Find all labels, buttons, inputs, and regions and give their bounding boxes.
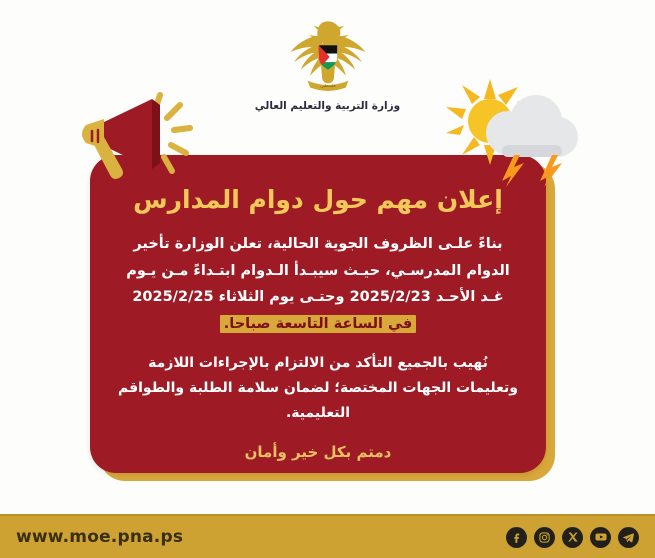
announcement-title: إعلان مهم حول دوام المدارس xyxy=(116,183,520,217)
poster-header: فلسطين وزارة التربية والتعليم العالي xyxy=(0,18,655,112)
ministry-name: وزارة التربية والتعليم العالي xyxy=(0,100,655,112)
announcement-card-content: إعلان مهم حول دوام المدارس بناءً علـى ال… xyxy=(90,155,546,473)
instagram-icon[interactable] xyxy=(534,527,555,548)
telegram-icon[interactable] xyxy=(618,527,639,548)
poster-footer: www.moe.pna.ps xyxy=(0,514,655,558)
social-links xyxy=(506,527,639,548)
announcement-paragraph-1-text: بناءً علـى الظروف الجوية الحالية، تعلن ا… xyxy=(126,236,510,306)
website-url[interactable]: www.moe.pna.ps xyxy=(16,527,183,547)
svg-text:فلسطين: فلسطين xyxy=(320,83,335,88)
announcement-time-highlight: في الساعة التاسعة صباحا. xyxy=(220,315,416,333)
announcement-closing: دمتم بكل خير وأمان xyxy=(116,443,520,461)
x-twitter-icon[interactable] xyxy=(562,527,583,548)
announcement-card: إعلان مهم حول دوام المدارس بناءً علـى ال… xyxy=(90,155,546,473)
palestine-eagle-emblem: فلسطين xyxy=(285,18,371,96)
facebook-icon[interactable] xyxy=(506,527,527,548)
announcement-poster: فلسطين وزارة التربية والتعليم العالي إعل… xyxy=(0,0,655,558)
youtube-icon[interactable] xyxy=(590,527,611,548)
announcement-paragraph-1: بناءً علـى الظروف الجوية الحالية، تعلن ا… xyxy=(116,231,520,338)
announcement-paragraph-2: نُهيب بالجميع التأكد من الالتزام بالإجرا… xyxy=(116,351,520,427)
